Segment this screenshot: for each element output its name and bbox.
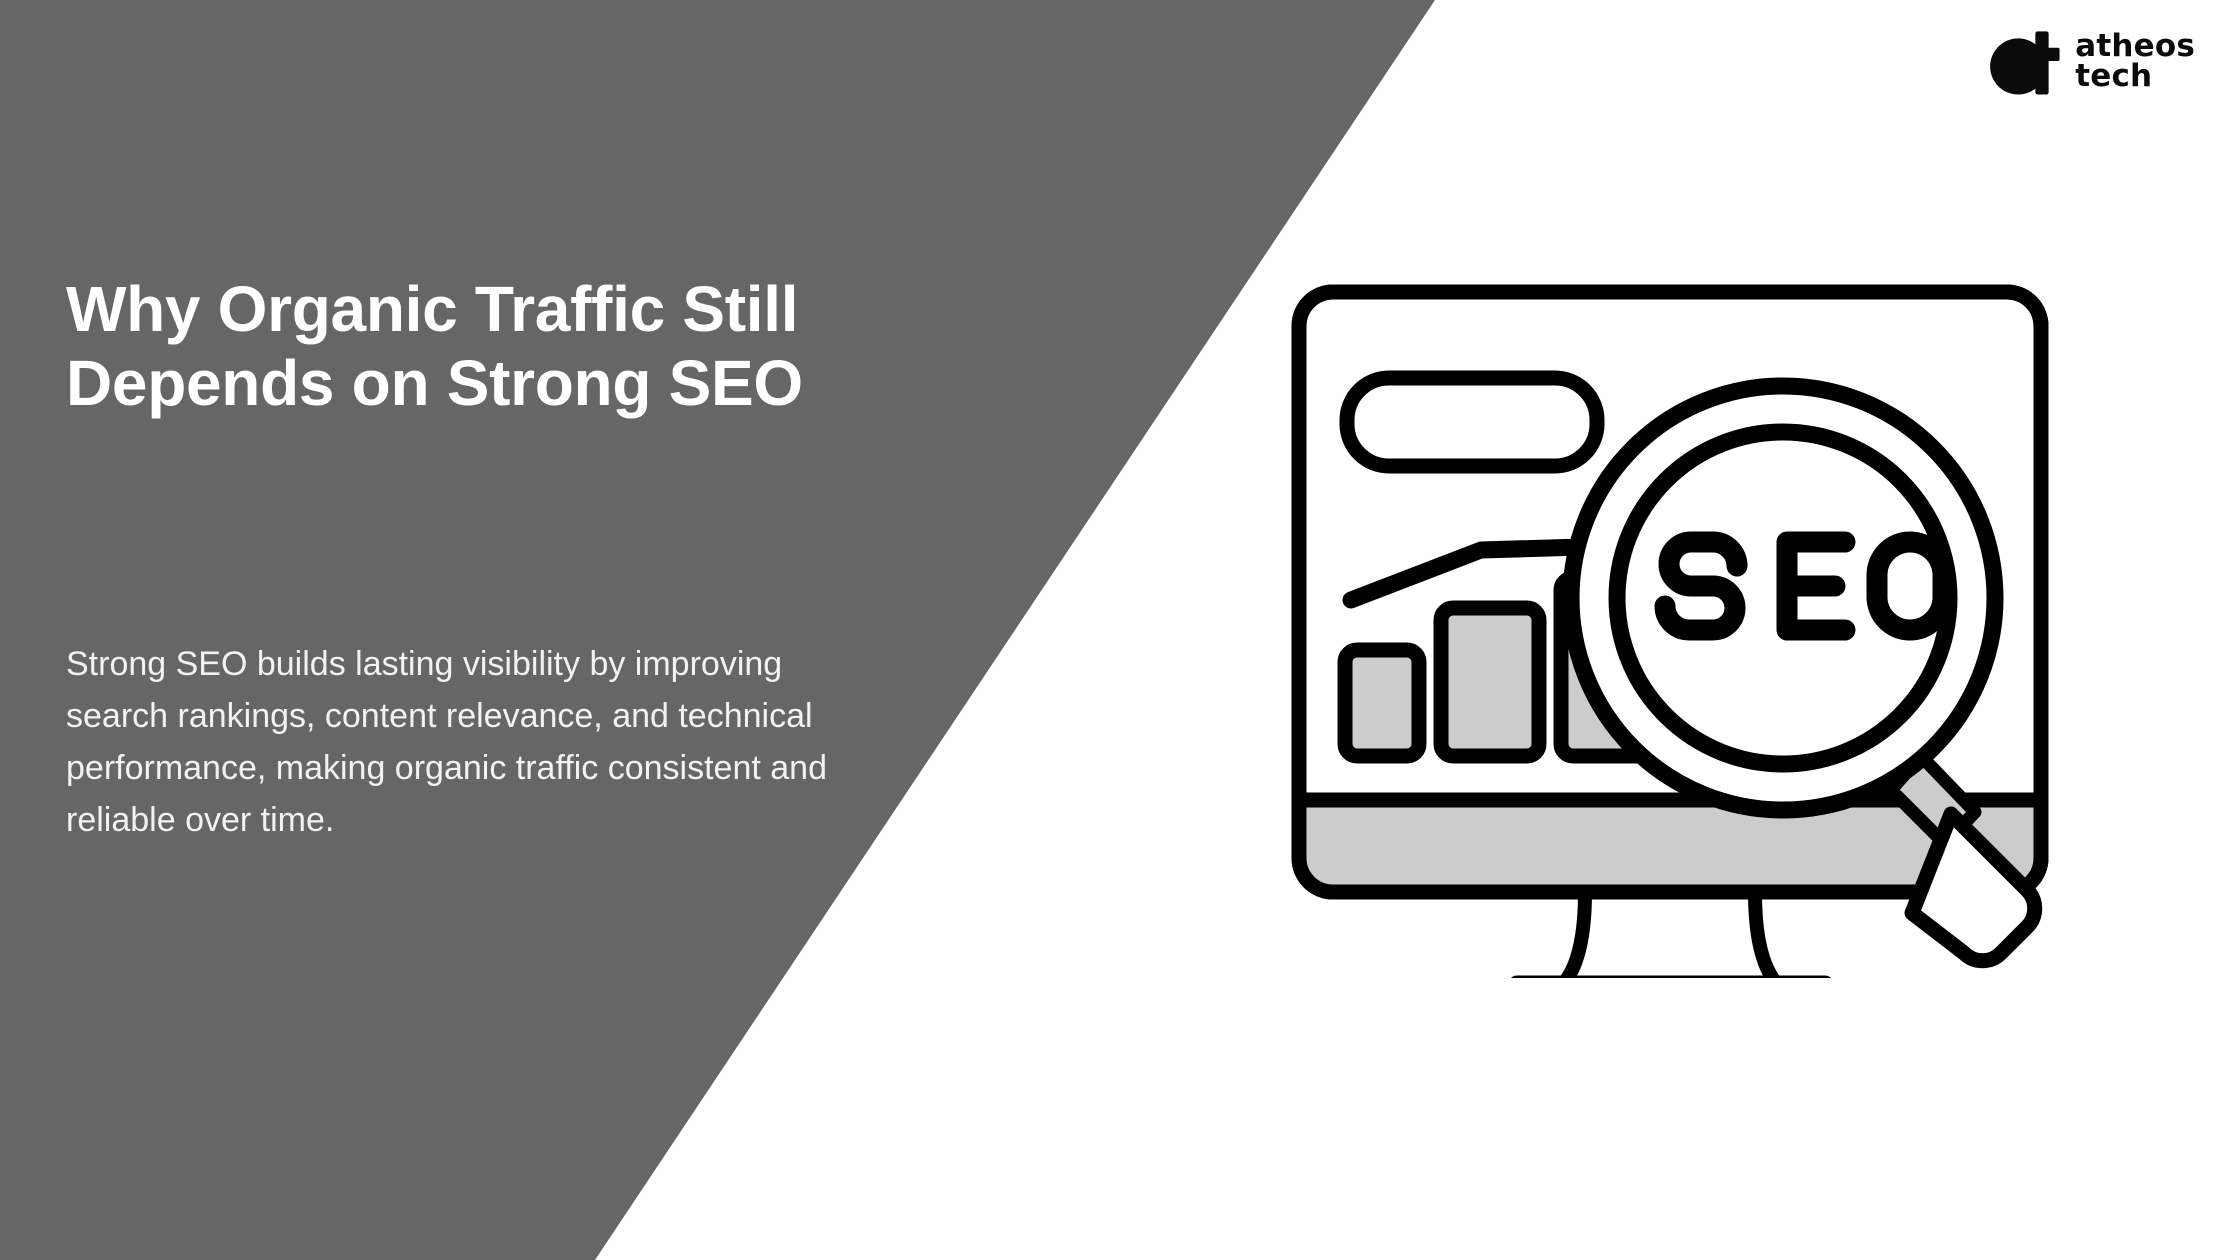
logo-text-line1: atheos xyxy=(2075,31,2195,61)
hero-body-text: Strong SEO builds lasting visibility by … xyxy=(66,638,836,846)
logo-text-line2: tech xyxy=(2075,61,2195,91)
poster-canvas: atheos tech Why Organic Traffic Still De… xyxy=(0,0,2240,1260)
logo-mark-icon xyxy=(1987,22,2065,100)
page-title: Why Organic Traffic Still Depends on Str… xyxy=(66,272,1056,420)
seo-monitor-illustration xyxy=(1285,278,2065,978)
hero-copy-block: Why Organic Traffic Still Depends on Str… xyxy=(66,272,1076,420)
seo-monitor-svg xyxy=(1285,278,2065,978)
brand-logo[interactable]: atheos tech xyxy=(1987,22,2195,100)
